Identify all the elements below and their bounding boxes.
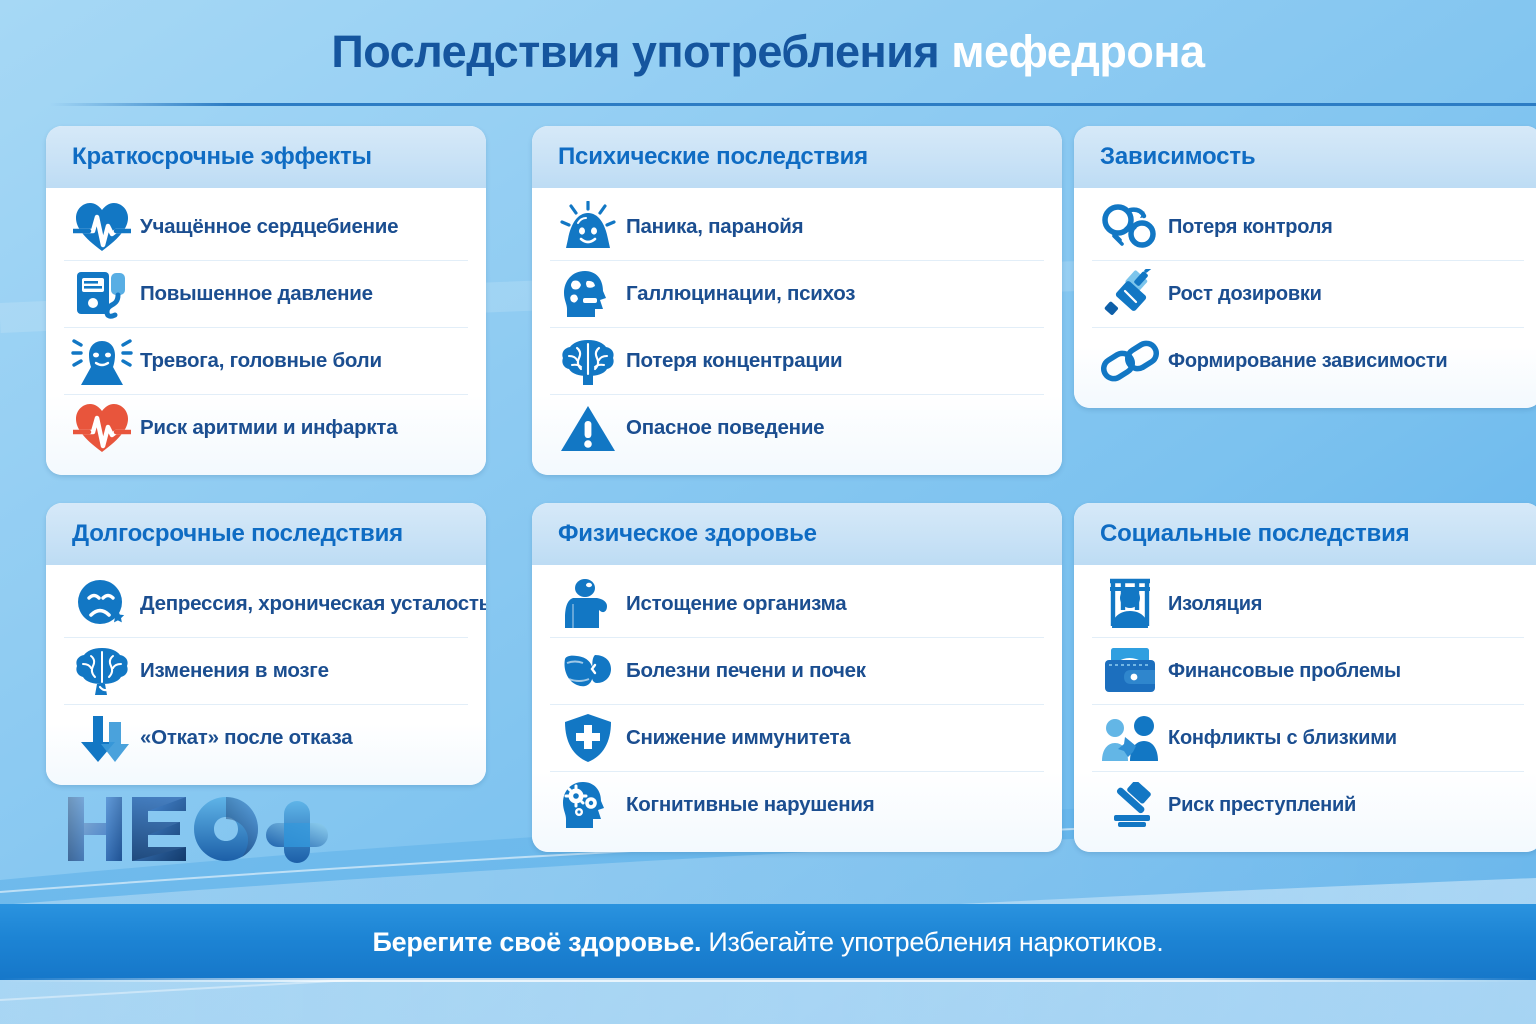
list-item[interactable]: Истощение организма — [550, 571, 1044, 638]
panic-ghost-icon — [550, 198, 626, 256]
card-long-term-consequences: Долгосрочные последствия Депрессия, хрон… — [46, 503, 486, 785]
list-item[interactable]: Депрессия, хроническая усталость — [64, 571, 468, 638]
list-item[interactable]: «Откат» после отказа — [64, 705, 468, 771]
card-body: Депрессия, хроническая усталость Изменен… — [46, 565, 486, 785]
card-title: Зависимость — [1100, 143, 1255, 171]
footer-text-bold: Берегите своё здоровье. — [373, 927, 702, 957]
footer-banner: Берегите своё здоровье. Избегайте употре… — [0, 904, 1536, 980]
list-item[interactable]: Риск аритмии и инфаркта — [64, 395, 468, 461]
list-item-label: Галлюцинации, психоз — [626, 282, 855, 306]
head-gears-icon — [550, 776, 626, 834]
footer-shine-line — [0, 978, 1536, 982]
list-item-label: Учащённое сердцебиение — [140, 215, 398, 239]
card-body: Истощение организма Болезни печени и поч… — [532, 565, 1062, 852]
exhausted-person-icon — [550, 575, 626, 633]
liver-kidney-icon — [550, 642, 626, 700]
list-item[interactable]: Галлюцинации, психоз — [550, 261, 1044, 328]
card-body: Паника, паранойя Галлюцинации, психоз — [532, 188, 1062, 475]
logo-neo-plus — [62, 793, 342, 865]
handcuffs-icon — [1092, 198, 1168, 256]
list-item[interactable]: Паника, паранойя — [550, 194, 1044, 261]
page-title: Последствия употребления мефедрона — [0, 0, 1536, 104]
list-item[interactable]: Формирование зависимости — [1092, 328, 1524, 394]
list-item-label: Снижение иммунитета — [626, 726, 850, 750]
list-item[interactable]: Изоляция — [1092, 571, 1524, 638]
list-item-label: Тревога, головные боли — [140, 349, 382, 373]
list-item-label: Изменения в мозге — [140, 659, 329, 683]
list-item[interactable]: Когнитивные нарушения — [550, 772, 1044, 838]
card-header: Социальные последствия — [1074, 503, 1536, 565]
card-title: Краткосрочные эффекты — [72, 143, 372, 171]
list-item-label: Изоляция — [1168, 593, 1262, 616]
list-item[interactable]: Риск преступлений — [1092, 772, 1524, 838]
list-item-label: Формирование зависимости — [1168, 350, 1447, 373]
cards-grid: Краткосрочные эффекты Учащённое сердцеби… — [0, 126, 1536, 852]
list-item[interactable]: Изменения в мозге — [64, 638, 468, 705]
card-body: Потеря контроля Рост дозировки — [1074, 188, 1536, 408]
chain-link-icon — [1092, 332, 1168, 390]
card-header: Психические последствия — [532, 126, 1062, 188]
list-item-label: «Откат» после отказа — [140, 726, 352, 750]
list-item-label: Повышенное давление — [140, 282, 373, 306]
footer-text-rest: Избегайте употребления наркотиков. — [701, 927, 1163, 957]
list-item-label: Паника, паранойя — [626, 215, 803, 239]
list-item-label: Конфликты с близкими — [1168, 727, 1397, 750]
list-item-label: Риск преступлений — [1168, 794, 1356, 817]
card-title: Долгосрочные последствия — [72, 520, 403, 548]
list-item-label: Когнитивные нарушения — [626, 793, 874, 817]
heart-pulse-red-icon — [64, 399, 140, 457]
card-social-consequences: Социальные последствия — [1074, 503, 1536, 852]
headache-person-icon — [64, 332, 140, 390]
title-divider — [50, 103, 1536, 106]
blood-pressure-monitor-icon — [64, 265, 140, 323]
list-item-label: Депрессия, хроническая усталость — [140, 592, 486, 616]
list-item[interactable]: Рост дозировки — [1092, 261, 1524, 328]
list-item[interactable]: Конфликты с близкими — [1092, 705, 1524, 772]
warning-triangle-icon — [550, 399, 626, 457]
list-item-label: Риск аритмии и инфаркта — [140, 416, 397, 440]
page-title-primary: Последствия употребления — [331, 26, 939, 77]
list-item-label: Истощение организма — [626, 592, 846, 616]
sad-face-icon — [64, 575, 140, 633]
list-item[interactable]: Потеря контроля — [1092, 194, 1524, 261]
list-item[interactable]: Тревога, головные боли — [64, 328, 468, 395]
hallucination-head-icon — [550, 265, 626, 323]
wallet-icon — [1092, 642, 1168, 700]
card-body: Изоляция Финансовые проблемы — [1074, 565, 1536, 852]
list-item-label: Опасное поведение — [626, 416, 824, 440]
list-item[interactable]: Финансовые проблемы — [1092, 638, 1524, 705]
card-header: Физическое здоровье — [532, 503, 1062, 565]
page-title-highlight: мефедрона — [951, 26, 1204, 77]
list-item[interactable]: Повышенное давление — [64, 261, 468, 328]
list-item-label: Потеря контроля — [1168, 216, 1333, 239]
gavel-icon — [1092, 776, 1168, 834]
card-dependence: Зависимость Потеря контроля — [1074, 126, 1536, 408]
card-body: Учащённое сердцебиение Повышенное давлен… — [46, 188, 486, 475]
list-item[interactable]: Снижение иммунитета — [550, 705, 1044, 772]
list-item-label: Рост дозировки — [1168, 283, 1322, 306]
card-title: Психические последствия — [558, 143, 868, 171]
prison-bars-person-icon — [1092, 575, 1168, 633]
card-physical-health: Физическое здоровье Истощение организма — [532, 503, 1062, 852]
list-item[interactable]: Болезни печени и почек — [550, 638, 1044, 705]
conflict-people-icon — [1092, 709, 1168, 767]
card-header: Долгосрочные последствия — [46, 503, 486, 565]
card-mental-consequences: Психические последствия Паника, паранойя — [532, 126, 1062, 475]
card-title: Физическое здоровье — [558, 520, 817, 548]
card-short-term-effects: Краткосрочные эффекты Учащённое сердцеби… — [46, 126, 486, 475]
brain-icon — [550, 332, 626, 390]
list-item-label: Потеря концентрации — [626, 349, 842, 373]
down-arrows-icon — [64, 709, 140, 767]
list-item[interactable]: Опасное поведение — [550, 395, 1044, 461]
heart-pulse-icon — [64, 198, 140, 256]
card-title: Социальные последствия — [1100, 520, 1409, 548]
syringe-icon — [1092, 265, 1168, 323]
list-item-label: Болезни печени и почек — [626, 659, 866, 683]
brain-tree-icon — [64, 642, 140, 700]
shield-cross-icon — [550, 709, 626, 767]
card-header: Зависимость — [1074, 126, 1536, 188]
list-item-label: Финансовые проблемы — [1168, 660, 1401, 683]
list-item[interactable]: Учащённое сердцебиение — [64, 194, 468, 261]
card-header: Краткосрочные эффекты — [46, 126, 486, 188]
list-item[interactable]: Потеря концентрации — [550, 328, 1044, 395]
